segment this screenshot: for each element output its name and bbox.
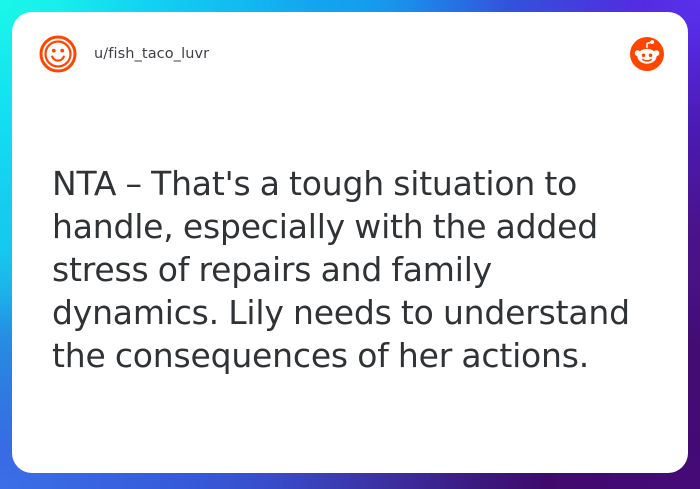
comment-text: NTA – That's a tough situation to handle…	[52, 162, 640, 377]
reddit-snoo-logo-icon	[630, 37, 664, 71]
username-label: u/fish_taco_luvr	[94, 46, 209, 62]
screenshot-root: u/fish_taco_luvr NTA – That's a tough si…	[0, 0, 700, 489]
smiley-face-avatar-icon	[38, 34, 78, 74]
card-header: u/fish_taco_luvr	[12, 12, 688, 96]
card-body: NTA – That's a tough situation to handle…	[52, 162, 640, 377]
reddit-comment-card: u/fish_taco_luvr NTA – That's a tough si…	[12, 12, 688, 473]
